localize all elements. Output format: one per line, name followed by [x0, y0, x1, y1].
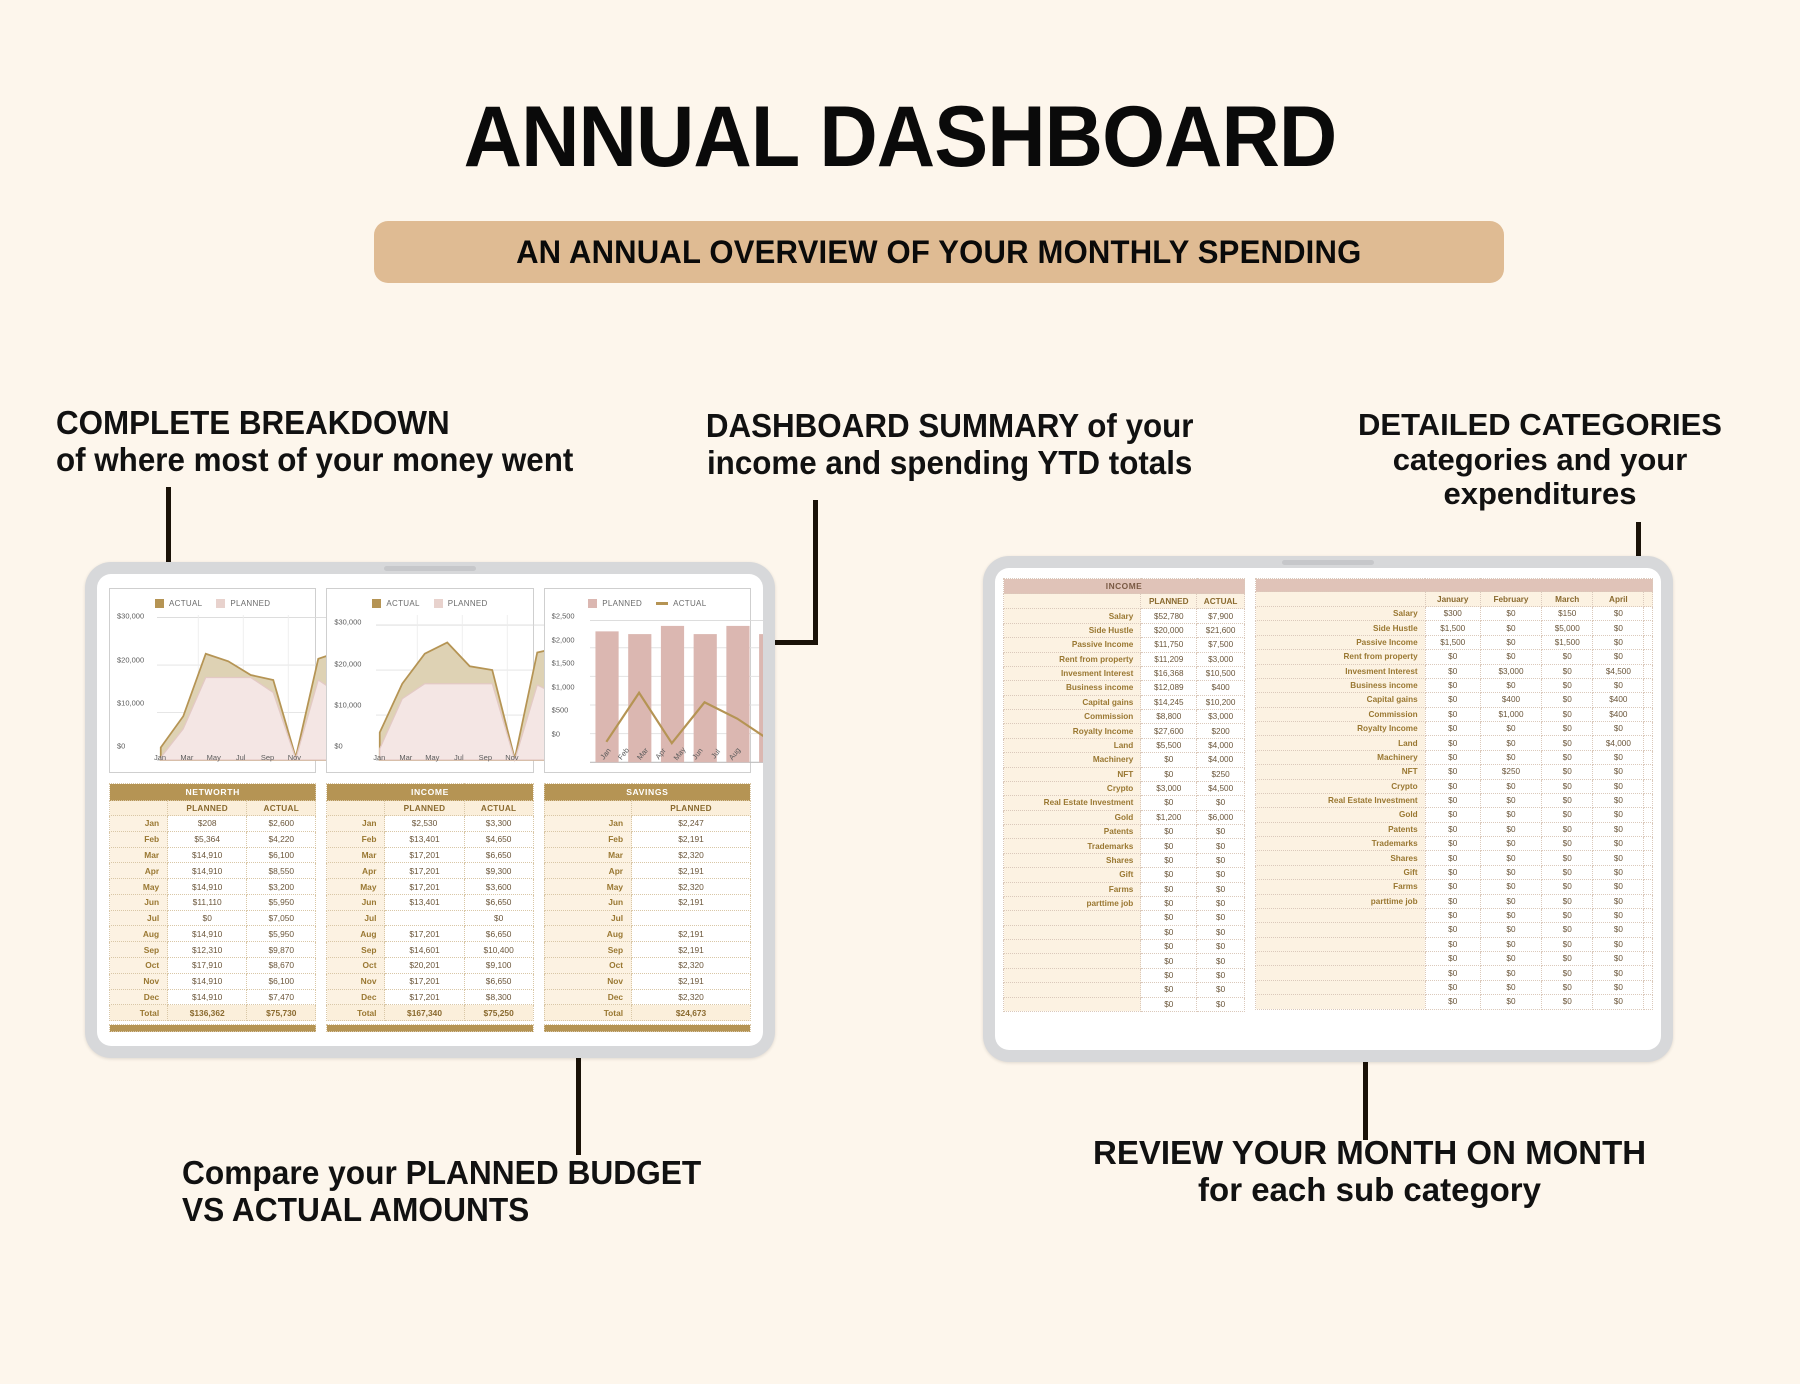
- cell-planned: $5,364: [168, 831, 247, 847]
- cell-actual: $0: [1197, 839, 1245, 853]
- cell-actual: $3,600: [464, 879, 533, 895]
- legend-swatch-actual: [372, 599, 381, 608]
- row-label: [1256, 966, 1426, 980]
- cell-extra: [1644, 664, 1653, 678]
- row-label: [1004, 997, 1141, 1011]
- cell-actual: $400: [1197, 681, 1245, 695]
- table-row: NFT$0$250$0$0: [1256, 765, 1653, 779]
- cell-february: $0: [1480, 635, 1541, 649]
- table-row: Sep$12,310$9,870: [110, 942, 316, 958]
- cell-march: $0: [1542, 966, 1593, 980]
- cell-april: $0: [1593, 865, 1644, 879]
- tablet-screen-left: ACTUAL PLANNED $30,000 $20,000 $1: [97, 574, 763, 1046]
- cell-extra: [1644, 678, 1653, 692]
- row-label: Real Estate Investment: [1256, 793, 1426, 807]
- annotation-line-2: for each sub category: [1093, 1172, 1646, 1209]
- cell-march: $0: [1542, 880, 1593, 894]
- legend-item-actual: ACTUAL: [155, 599, 202, 608]
- cell-extra: [1644, 779, 1653, 793]
- table-row: Side Hustle$1,500$0$5,000$0: [1256, 621, 1653, 635]
- table-row: Jan$2,247: [544, 816, 750, 832]
- row-label: Commission: [1256, 707, 1426, 721]
- cell-april: $0: [1593, 765, 1644, 779]
- table-row: Apr$2,191: [544, 863, 750, 879]
- table-row: Oct$17,910$8,670: [110, 958, 316, 974]
- y-tick: $0: [334, 741, 342, 750]
- cell-april: $0: [1593, 822, 1644, 836]
- cell-actual: $0: [1197, 853, 1245, 867]
- cell-january: $0: [1425, 822, 1480, 836]
- cell-planned: $13,401: [385, 894, 464, 910]
- x-tick: Mar: [399, 753, 412, 762]
- legend-label-actual: ACTUAL: [169, 599, 202, 608]
- cell-april: $0: [1593, 678, 1644, 692]
- table-row: Crypto$3,000$4,500: [1004, 781, 1245, 795]
- annotation-line-1: Compare your PLANNED BUDGET: [182, 1155, 701, 1192]
- cell-total-planned: $24,673: [632, 1005, 751, 1021]
- table-row: Real Estate Investment$0$0: [1004, 796, 1245, 810]
- table-column-headers: January February March April: [1256, 592, 1653, 607]
- cell-planned: $2,530: [385, 816, 464, 832]
- savings-x-axis: Jan Feb Mar Apr May Jun Jul Aug: [590, 735, 743, 759]
- table-row: Crypto$0$0$0$0: [1256, 779, 1653, 793]
- table-savings: SAVINGS PLANNED Jan$2,247 Feb$2,191 Mar$…: [544, 783, 751, 1021]
- cell-january: $0: [1425, 650, 1480, 664]
- cell-january: $0: [1425, 707, 1480, 721]
- x-tick: Nov: [505, 753, 518, 762]
- cell-planned: $2,191: [632, 831, 751, 847]
- row-label: Jun: [544, 894, 631, 910]
- cell-planned: $17,201: [385, 847, 464, 863]
- table-income: INCOME PLANNED ACTUAL Jan$2,530$3,300 Fe…: [326, 783, 533, 1021]
- chart-legend: ACTUAL PLANNED: [332, 595, 527, 611]
- cell-january: $0: [1425, 736, 1480, 750]
- monthly-breakdown-section: January February March April Salary$300$…: [1255, 578, 1653, 1050]
- cell-planned: $2,191: [632, 863, 751, 879]
- cell-planned: $1,200: [1141, 810, 1197, 824]
- cell-april: $400: [1593, 707, 1644, 721]
- cell-extra: [1644, 880, 1653, 894]
- row-label: Sep: [544, 942, 631, 958]
- cell-actual: $9,100: [464, 958, 533, 974]
- cell-planned: $0: [1141, 825, 1197, 839]
- cell-planned: $17,910: [168, 958, 247, 974]
- col-header-march: March: [1542, 592, 1593, 607]
- cell-actual: $3,200: [247, 879, 316, 895]
- cell-total-planned: $167,340: [385, 1005, 464, 1021]
- row-label: NFT: [1004, 767, 1141, 781]
- table-row: Rent from property$0$0$0$0: [1256, 650, 1653, 664]
- annotation-line-1: REVIEW YOUR MONTH ON MONTH: [1093, 1135, 1646, 1172]
- row-label: Trademarks: [1004, 839, 1141, 853]
- cell-actual: $0: [1197, 968, 1245, 982]
- col-header-blank: [110, 801, 168, 816]
- table-row: Land$5,500$4,000: [1004, 738, 1245, 752]
- legend-label-planned: PLANNED: [602, 599, 642, 608]
- cell-january: $0: [1425, 722, 1480, 736]
- cell-planned: $3,000: [1141, 781, 1197, 795]
- footer-band-label: [544, 1025, 750, 1032]
- y-tick: $2,000: [552, 635, 575, 644]
- cell-february: $0: [1480, 980, 1541, 994]
- cell-planned: $0: [1141, 940, 1197, 954]
- band-filler: [1256, 579, 1653, 592]
- row-label: Jan: [544, 816, 631, 832]
- cell-january: $0: [1425, 808, 1480, 822]
- cell-planned: $2,320: [632, 879, 751, 895]
- cell-planned: $14,910: [168, 879, 247, 895]
- page-title: ANNUAL DASHBOARD: [54, 88, 1746, 187]
- annotation-line-2: of where most of your money went: [56, 442, 573, 479]
- cell-extra: [1644, 793, 1653, 807]
- cell-april: $0: [1593, 650, 1644, 664]
- table-row: Jan$2,530$3,300: [327, 816, 533, 832]
- cell-planned: [385, 910, 464, 926]
- row-label: Jul: [110, 910, 168, 926]
- cell-planned: $17,201: [385, 989, 464, 1005]
- table-title-band: SAVINGS: [544, 784, 750, 801]
- row-label: Apr: [544, 863, 631, 879]
- chart-plot-area-savings: $2,500 $2,000 $1,500 $1,000 $500 $0: [552, 611, 745, 761]
- cell-february: $0: [1480, 908, 1541, 922]
- annotation-detailed-categories: DETAILED CATEGORIES categories and your …: [1358, 408, 1722, 512]
- cell-february: $250: [1480, 765, 1541, 779]
- row-label: NFT: [1256, 765, 1426, 779]
- cell-april: $0: [1593, 908, 1644, 922]
- legend-label-actual: ACTUAL: [386, 599, 419, 608]
- cell-actual: $0: [1197, 882, 1245, 896]
- row-label: Side Hustle: [1256, 621, 1426, 635]
- cell-extra: [1644, 837, 1653, 851]
- annotation-line-1: COMPLETE BREAKDOWN: [56, 405, 573, 442]
- cell-planned: $208: [168, 816, 247, 832]
- cell-actual: $0: [1197, 796, 1245, 810]
- cell-extra: [1644, 822, 1653, 836]
- cell-actual: $4,000: [1197, 753, 1245, 767]
- y-tick: $0: [117, 741, 125, 750]
- cell-january: $0: [1425, 837, 1480, 851]
- cell-april: $0: [1593, 750, 1644, 764]
- cell-extra: [1644, 650, 1653, 664]
- row-label: Farms: [1004, 882, 1141, 896]
- legend-item-actual: ACTUAL: [656, 599, 706, 608]
- cell-march: $0: [1542, 750, 1593, 764]
- cell-february: $0: [1480, 952, 1541, 966]
- table-row: $0$0: [1004, 925, 1245, 939]
- cell-march: $0: [1542, 808, 1593, 822]
- table-footer-band-2: [326, 1024, 533, 1032]
- row-label: Dec: [544, 989, 631, 1005]
- cell-planned: $2,320: [632, 847, 751, 863]
- cell-february: $0: [1480, 851, 1541, 865]
- chart-savings: PLANNED ACTUAL $2,500 $2,000 $1,5: [544, 588, 751, 773]
- cell-planned: $0: [1141, 868, 1197, 882]
- cell-planned: $0: [1141, 896, 1197, 910]
- row-label: Passive Income: [1004, 638, 1141, 652]
- cell-march: $1,500: [1542, 635, 1593, 649]
- x-tick: Sep: [261, 753, 274, 762]
- table-row: $0$0$0$0: [1256, 923, 1653, 937]
- table-row: Gold$0$0$0$0: [1256, 808, 1653, 822]
- row-label: Mar: [544, 847, 631, 863]
- cell-actual: $0: [1197, 983, 1245, 997]
- cell-extra: [1644, 937, 1653, 951]
- income-summary-section: INCOME PLANNED ACTUAL Salary$52,780$7,90…: [1003, 578, 1245, 1050]
- cell-actual: $0: [1197, 868, 1245, 882]
- cell-extra: [1644, 765, 1653, 779]
- cell-january: $0: [1425, 995, 1480, 1009]
- cell-actual: $8,670: [247, 958, 316, 974]
- table-row: Machinery$0$0$0$0: [1256, 750, 1653, 764]
- table-row: Patents$0$0$0$0: [1256, 822, 1653, 836]
- table-row: May$17,201$3,600: [327, 879, 533, 895]
- panel-savings: PLANNED ACTUAL $2,500 $2,000 $1,5: [544, 588, 751, 1032]
- cell-actual: $5,950: [247, 894, 316, 910]
- cell-extra: [1644, 908, 1653, 922]
- table-footer-band-3: [544, 1024, 751, 1032]
- cell-planned: $0: [1141, 968, 1197, 982]
- row-label: Salary: [1004, 609, 1141, 623]
- table-row: Business income$12,089$400: [1004, 681, 1245, 695]
- cell-actual: $21,600: [1197, 623, 1245, 637]
- cell-march: $0: [1542, 851, 1593, 865]
- col-header-april: April: [1593, 592, 1644, 607]
- cell-planned: [632, 910, 751, 926]
- cell-actual: $6,650: [464, 973, 533, 989]
- cell-planned: $13,401: [385, 831, 464, 847]
- row-label: Land: [1256, 736, 1426, 750]
- x-tick: Jul: [454, 753, 464, 762]
- chart-plot-area-networth: $30,000 $20,000 $10,000 $0: [117, 611, 310, 761]
- cell-actual: $4,220: [247, 831, 316, 847]
- table-networth: NETWORTH PLANNED ACTUAL Jan$208$2,600 Fe…: [109, 783, 316, 1021]
- cell-planned: $2,247: [632, 816, 751, 832]
- cell-april: $0: [1593, 808, 1644, 822]
- table-column-headers: PLANNED ACTUAL: [110, 801, 316, 816]
- row-label: Passive Income: [1256, 635, 1426, 649]
- legend-swatch-actual: [656, 602, 668, 605]
- row-label: Sep: [327, 942, 385, 958]
- legend-item-planned: PLANNED: [588, 599, 642, 608]
- table-row: Dec$14,910$7,470: [110, 989, 316, 1005]
- cell-extra: [1644, 923, 1653, 937]
- cell-planned: $20,000: [1141, 623, 1197, 637]
- cell-january: $0: [1425, 865, 1480, 879]
- table-row: Jan$208$2,600: [110, 816, 316, 832]
- row-label-total: Total: [327, 1005, 385, 1021]
- cell-january: $1,500: [1425, 621, 1480, 635]
- row-label: Shares: [1256, 851, 1426, 865]
- cell-february: $0: [1480, 678, 1541, 692]
- row-label: Dec: [327, 989, 385, 1005]
- table-row: Gift$0$0: [1004, 868, 1245, 882]
- annotation-review-month: REVIEW YOUR MONTH ON MONTH for each sub …: [1093, 1135, 1646, 1209]
- cell-february: $0: [1480, 750, 1541, 764]
- cell-actual: $4,000: [1197, 738, 1245, 752]
- table-row: Dec$17,201$8,300: [327, 989, 533, 1005]
- cell-planned: $12,310: [168, 942, 247, 958]
- tablet-camera-notch: [384, 566, 476, 571]
- annotation-line-1: DETAILED CATEGORIES: [1358, 408, 1722, 443]
- col-header-february: February: [1480, 592, 1541, 607]
- cell-march: $0: [1542, 908, 1593, 922]
- cell-april: $0: [1593, 635, 1644, 649]
- chart-income: ACTUAL PLANNED $30,000 $20,000 $1: [326, 588, 533, 773]
- col-header-actual: ACTUAL: [464, 801, 533, 816]
- tablet-device-right: INCOME PLANNED ACTUAL Salary$52,780$7,90…: [983, 556, 1673, 1062]
- col-header-planned: PLANNED: [168, 801, 247, 816]
- cell-planned: $14,910: [168, 847, 247, 863]
- cell-february: $0: [1480, 937, 1541, 951]
- row-label: Gold: [1256, 808, 1426, 822]
- table-row: Trademarks$0$0: [1004, 839, 1245, 853]
- row-label: Machinery: [1256, 750, 1426, 764]
- table-title-band: INCOME: [1004, 579, 1245, 594]
- table-row: Salary$300$0$150$0: [1256, 607, 1653, 621]
- cell-january: $0: [1425, 693, 1480, 707]
- cell-planned: $27,600: [1141, 724, 1197, 738]
- row-label: Royalty Income: [1004, 724, 1141, 738]
- cell-actual: $200: [1197, 724, 1245, 738]
- cell-march: $0: [1542, 865, 1593, 879]
- cell-march: $5,000: [1542, 621, 1593, 635]
- cell-actual: $6,650: [464, 926, 533, 942]
- table-row: Business income$0$0$0$0: [1256, 678, 1653, 692]
- x-tick: Nov: [288, 753, 301, 762]
- table-row: $0$0$0$0: [1256, 995, 1653, 1009]
- cell-actual: $6,100: [247, 973, 316, 989]
- cell-actual: $0: [1197, 825, 1245, 839]
- row-label: Feb: [327, 831, 385, 847]
- x-tick: Jul: [236, 753, 246, 762]
- cell-actual: $4,500: [1197, 781, 1245, 795]
- row-label: Mar: [327, 847, 385, 863]
- chart-plot-area-income: $30,000 $20,000 $10,000 $0: [334, 611, 527, 761]
- cell-planned: $11,110: [168, 894, 247, 910]
- row-label: Sep: [110, 942, 168, 958]
- cell-april: $0: [1593, 966, 1644, 980]
- table-row: Jun$2,191: [544, 894, 750, 910]
- row-label: parttime job: [1004, 896, 1141, 910]
- chart-legend: PLANNED ACTUAL: [550, 595, 745, 611]
- row-label: [1256, 995, 1426, 1009]
- cell-actual: $250: [1197, 767, 1245, 781]
- cell-extra: [1644, 707, 1653, 721]
- cell-planned: $14,245: [1141, 695, 1197, 709]
- y-tick: $1,000: [552, 682, 575, 691]
- table-row: Apr$14,910$8,550: [110, 863, 316, 879]
- cell-march: $0: [1542, 952, 1593, 966]
- row-label: Jun: [110, 894, 168, 910]
- cell-extra: [1644, 750, 1653, 764]
- row-label: Shares: [1004, 853, 1141, 867]
- cell-planned: $0: [1141, 767, 1197, 781]
- annotation-compare-planned: Compare your PLANNED BUDGET VS ACTUAL AM…: [182, 1155, 701, 1229]
- cell-march: $0: [1542, 736, 1593, 750]
- x-tick: Mar: [180, 753, 193, 762]
- cell-march: $0: [1542, 650, 1593, 664]
- cell-actual: $7,050: [247, 910, 316, 926]
- row-label: May: [110, 879, 168, 895]
- table-row: Aug$2,191: [544, 926, 750, 942]
- row-label: Patents: [1004, 825, 1141, 839]
- table-row: Passive Income$11,750$7,500: [1004, 638, 1245, 652]
- annotation-line-3: expenditures: [1358, 477, 1722, 512]
- table-row: $0$0: [1004, 911, 1245, 925]
- table-row: Mar$14,910$6,100: [110, 847, 316, 863]
- row-label: Aug: [327, 926, 385, 942]
- table-row: Apr$17,201$9,300: [327, 863, 533, 879]
- legend-swatch-planned: [216, 599, 225, 608]
- cell-planned: $0: [1141, 853, 1197, 867]
- table-row: Invesment Interest$16,368$10,500: [1004, 666, 1245, 680]
- y-tick: $500: [552, 706, 569, 715]
- legend-swatch-planned: [588, 599, 597, 608]
- cell-total-actual: $75,250: [464, 1005, 533, 1021]
- cell-april: $400: [1593, 693, 1644, 707]
- cell-actual: $7,470: [247, 989, 316, 1005]
- table-row: NFT$0$250: [1004, 767, 1245, 781]
- table-row: Trademarks$0$0$0$0: [1256, 837, 1653, 851]
- cell-march: $0: [1542, 693, 1593, 707]
- cell-february: $1,000: [1480, 707, 1541, 721]
- col-header-planned: PLANNED: [385, 801, 464, 816]
- row-label: Invesment Interest: [1256, 664, 1426, 678]
- cell-march: $0: [1542, 678, 1593, 692]
- cell-extra: [1644, 865, 1653, 879]
- col-header-planned: PLANNED: [632, 801, 751, 816]
- table-column-headers: PLANNED: [544, 801, 750, 816]
- networth-x-axis: Jan Mar May Jul Sep Nov: [157, 749, 306, 761]
- cell-planned: $52,780: [1141, 609, 1197, 623]
- cell-march: $0: [1542, 793, 1593, 807]
- table-title: SAVINGS: [544, 784, 750, 801]
- tablet-device-left: ACTUAL PLANNED $30,000 $20,000 $1: [85, 562, 775, 1058]
- cell-january: $0: [1425, 966, 1480, 980]
- row-label: Aug: [544, 926, 631, 942]
- annotation-line-2: VS ACTUAL AMOUNTS: [182, 1192, 701, 1229]
- table-title: INCOME: [327, 784, 533, 801]
- cell-extra: [1644, 808, 1653, 822]
- cell-february: $0: [1480, 607, 1541, 621]
- cell-february: $0: [1480, 865, 1541, 879]
- row-label: Oct: [544, 958, 631, 974]
- table-column-headers: PLANNED ACTUAL: [1004, 594, 1245, 609]
- x-tick: Jan: [373, 753, 385, 762]
- table-row-total: Total$136,362$75,730: [110, 1005, 316, 1021]
- row-label: [1004, 968, 1141, 982]
- table-row: Feb$13,401$4,650: [327, 831, 533, 847]
- cell-february: $0: [1480, 650, 1541, 664]
- cell-february: $0: [1480, 779, 1541, 793]
- table-row: Aug$14,910$5,950: [110, 926, 316, 942]
- row-label: Crypto: [1004, 781, 1141, 795]
- cell-january: $0: [1425, 908, 1480, 922]
- cell-january: $0: [1425, 793, 1480, 807]
- row-label: Land: [1004, 738, 1141, 752]
- cell-january: $0: [1425, 980, 1480, 994]
- row-label: Rent from property: [1256, 650, 1426, 664]
- row-label: parttime job: [1256, 894, 1426, 908]
- y-tick: $30,000: [117, 612, 144, 621]
- col-header-actual: ACTUAL: [247, 801, 316, 816]
- cell-extra: [1644, 607, 1653, 621]
- table-row: Commission$0$1,000$0$400: [1256, 707, 1653, 721]
- cell-planned: $0: [1141, 911, 1197, 925]
- row-label: May: [544, 879, 631, 895]
- row-label: Feb: [110, 831, 168, 847]
- table-row: Side Hustle$20,000$21,600: [1004, 623, 1245, 637]
